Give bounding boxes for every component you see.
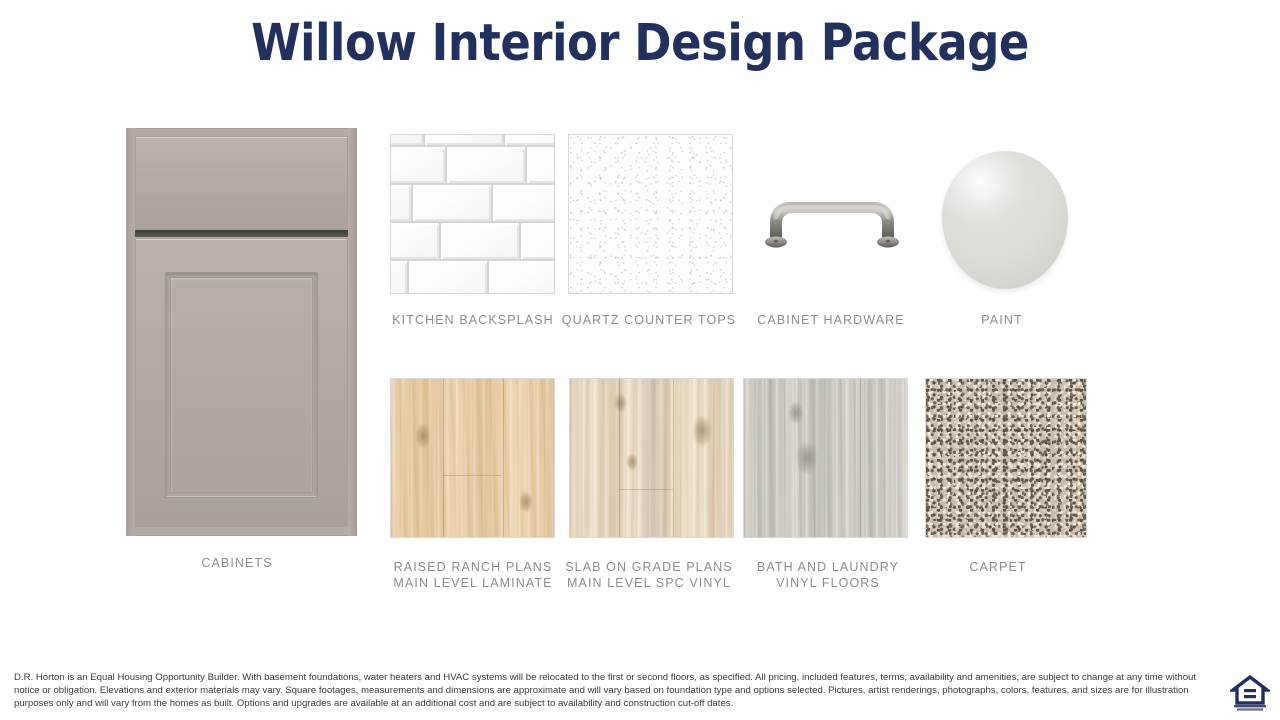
quartz-slab-swatch [568, 134, 733, 294]
caption-kitchen-backsplash: KITCHEN BACKSPLASH [372, 313, 574, 329]
cabinet-panel-face [170, 277, 313, 493]
eho-logo-svg [1230, 672, 1270, 712]
subway-tile-swatch [390, 134, 555, 294]
cabinet-door-front [135, 238, 348, 527]
design-package-board: CABINETS [0, 0, 1280, 660]
cabinet-right-edge [348, 128, 357, 536]
caption-cabinets: CABINETS [137, 556, 337, 572]
laminate-grain-field [391, 379, 554, 537]
spc-vinyl-swatch [569, 378, 734, 538]
cabinet-pull-svg [752, 186, 912, 266]
equal-housing-opportunity-logo [1230, 672, 1270, 712]
spc-grain-field [570, 379, 733, 537]
grey-vinyl-grain-field [744, 379, 907, 537]
carpet-swatch [925, 378, 1087, 538]
cabinet-door-swatch [126, 128, 357, 536]
tile-field [391, 135, 554, 293]
caption-paint: PAINT [901, 313, 1103, 329]
cabinet-reveal-gap [135, 230, 348, 237]
cabinet-drawer-front [135, 136, 348, 230]
caption-quartz-counter-tops: QUARTZ COUNTER TOPS [548, 313, 750, 329]
wood-laminate-swatch [390, 378, 555, 538]
cabinet-recessed-panel [165, 272, 318, 498]
cabinet-pull-icon [752, 186, 912, 266]
caption-carpet: CARPET [897, 560, 1099, 576]
caption-main-level-spc-vinyl: SLAB ON GRADE PLANS MAIN LEVEL SPC VINYL [548, 560, 750, 591]
caption-main-level-laminate: RAISED RANCH PLANS MAIN LEVEL LAMINATE [372, 560, 574, 591]
grey-vinyl-swatch [743, 378, 908, 538]
legal-disclaimer: D.R. Horton is an Equal Housing Opportun… [14, 671, 1219, 711]
paint-blob-swatch [942, 151, 1068, 289]
quartz-speckle-field [569, 135, 732, 293]
carpet-fiber-field [926, 379, 1086, 537]
cabinet-left-edge [126, 128, 135, 536]
